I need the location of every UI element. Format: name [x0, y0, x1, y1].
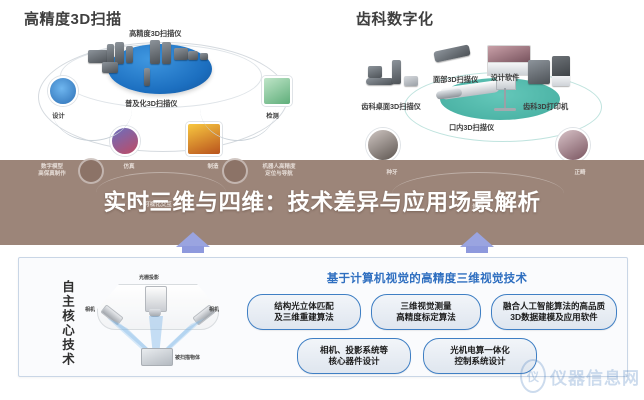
panel-title-right: 齿科数字化	[356, 8, 434, 29]
diagram-label-camera-left: 相机	[85, 306, 95, 313]
tech-pill-core-components[interactable]: 相机、投影系统等 核心器件设计	[297, 338, 411, 374]
tech-pill-structured-light-label: 结构光立体匹配 及三维重建算法	[274, 301, 334, 323]
label-design-software: 设计软件	[491, 72, 520, 83]
label-intraoral-scanner: 口内3D扫描仪	[449, 122, 494, 133]
card-header: 基于计算机视觉的高精度三维视觉技术	[241, 268, 613, 288]
tech-pill-control-system-label: 光机电算一体化 控制系统设计	[450, 345, 510, 367]
watermark-badge-icon: 仪	[520, 359, 546, 393]
watermark-text: 仪器信息网	[550, 364, 640, 389]
card-header-text: 基于计算机视觉的高精度三维视觉技术	[327, 270, 528, 286]
label-high-precision-scanner: 高精度3D扫描仪	[129, 28, 181, 39]
scanned-object-icon	[141, 348, 173, 366]
overlay-title-text: 实时三维与四维：技术差异与应用场景解析	[32, 189, 612, 216]
structured-light-diagram: 光栅投影 相机 相机 被扫描物体	[87, 270, 227, 368]
label-dental-printer: 齿科3D打印机	[523, 101, 568, 112]
connector-curve-right	[200, 76, 276, 141]
panel-high-precision-scanning: 高精度3D扫描 高精度3D扫描仪 普及化3D扫描仪 设计	[0, 0, 322, 160]
label-popular-scanner: 普及化3D扫描仪	[125, 98, 177, 109]
diagram-label-projector: 光栅投影	[139, 274, 159, 281]
label-face-scanner: 面部3D扫描仪	[433, 74, 478, 85]
tech-pill-3d-measurement-label: 三维视觉测量 高精度标定算法	[396, 301, 456, 323]
tech-pill-core-components-label: 相机、投影系统等 核心器件设计	[320, 345, 388, 367]
overlay-title: 实时三维与四维：技术差异与应用场景解析	[0, 160, 644, 245]
scanner-device-cluster	[88, 36, 238, 86]
watermark: 仪 仪器信息网	[520, 356, 640, 396]
node-implant	[366, 128, 400, 160]
label-desktop-scanner: 齿科桌面3D扫描仪	[361, 101, 421, 112]
tech-pill-ai-modeling-label: 融合人工智能算法的高品质 3D数据建模及应用软件	[503, 301, 605, 323]
diagram-label-camera-right: 相机	[209, 306, 219, 313]
tech-pill-3d-measurement[interactable]: 三维视觉测量 高精度标定算法	[371, 294, 481, 330]
panel-title-left: 高精度3D扫描	[24, 8, 122, 29]
card-vertical-title: 自主核心技术	[51, 280, 73, 367]
slide-image: 高精度3D扫描 高精度3D扫描仪 普及化3D扫描仪 设计	[0, 0, 644, 400]
tech-pill-structured-light[interactable]: 结构光立体匹配 及三维重建算法	[247, 294, 361, 330]
top-section: 高精度3D扫描 高精度3D扫描仪 普及化3D扫描仪 设计	[0, 0, 644, 160]
node-restoration	[556, 128, 590, 160]
connector-curve-left	[52, 78, 132, 141]
tech-pill-ai-modeling[interactable]: 融合人工智能算法的高品质 3D数据建模及应用软件	[491, 294, 617, 330]
diagram-label-object: 被扫描物体	[175, 354, 200, 361]
